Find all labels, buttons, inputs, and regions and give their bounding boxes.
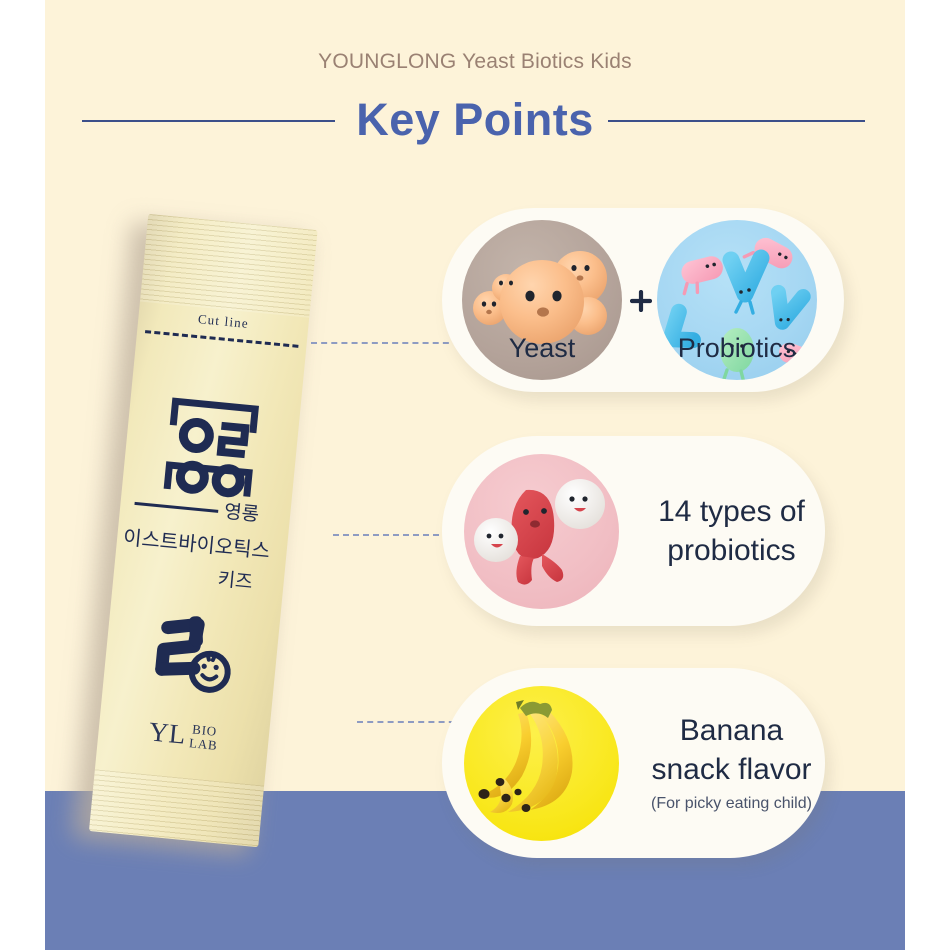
card-2-line-1: 14 types of	[658, 495, 805, 528]
kids-smiley-mark-icon	[142, 604, 246, 699]
sachet-brand-lab: LAB	[189, 735, 219, 753]
card-3-text: Banana snack flavor (For picky eating ch…	[638, 668, 825, 858]
banana-bunch-icon	[464, 686, 619, 841]
plus-icon	[630, 290, 652, 312]
sachet-top-seal	[140, 214, 318, 318]
sachet-brand-yl: YL	[148, 716, 188, 749]
page-title: Key Points	[356, 93, 594, 147]
probiotics-circle: Probiotics	[657, 220, 817, 380]
connector-line-1	[311, 342, 459, 344]
key-point-card-14-types[interactable]: 14 types of probiotics	[442, 436, 825, 626]
card-3-line-1: Banana	[680, 714, 783, 747]
connector-line-3	[357, 721, 465, 723]
yl-logo-mark-icon	[161, 395, 262, 503]
key-point-card-banana-flavor[interactable]: Banana snack flavor (For picky eating ch…	[442, 668, 825, 858]
connector-line-2	[333, 534, 459, 536]
probiotic-character-circle	[464, 454, 619, 609]
sachet-brand-lockup: YLBIOLAB	[148, 716, 220, 754]
poster-canvas: YOUNGLONG Yeast Biotics Kids Key Points …	[0, 0, 950, 950]
yeast-label: Yeast	[462, 333, 622, 364]
sachet-korean-line-1: 영롱	[223, 497, 260, 527]
page-title-wrap: Key Points	[0, 93, 950, 147]
key-point-card-yeast-probiotics[interactable]: Yeast	[442, 208, 844, 392]
card-2-line-2: probiotics	[667, 534, 795, 567]
yeast-circle: Yeast	[462, 220, 622, 380]
banana-circle	[464, 686, 619, 841]
sachet-divider-rule	[134, 502, 218, 513]
probiotic-character-icon	[464, 454, 619, 609]
card-3-line-2: snack flavor	[651, 753, 811, 786]
card-2-text: 14 types of probiotics	[638, 436, 825, 626]
probiotics-label: Probiotics	[657, 333, 817, 364]
sachet-korean-line-2: 이스트바이오틱스	[122, 521, 271, 564]
sachet-korean-line-3: 키즈	[217, 564, 254, 594]
brand-line: YOUNGLONG Yeast Biotics Kids	[0, 50, 950, 74]
card-3-subtext: (For picky eating child)	[651, 793, 812, 815]
